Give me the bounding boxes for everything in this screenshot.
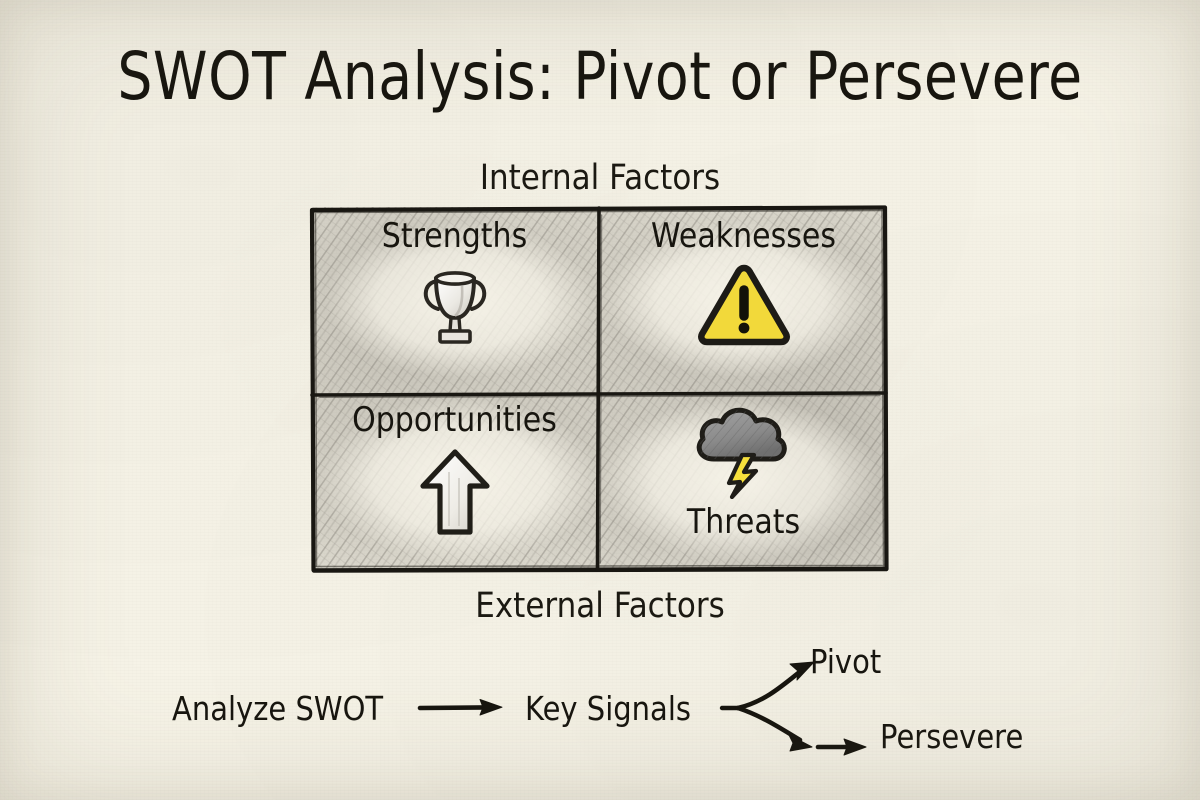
swot-matrix: Strengths [310,205,888,572]
flow-node-analyze-swot[interactable]: Analyze SWOT [172,690,383,728]
quadrant-label-weaknesses: Weaknesses [651,217,836,256]
external-factors-label: External Factors [0,586,1200,626]
flow-node-persevere[interactable]: Persevere [880,718,1023,756]
decision-flow: Analyze SWOT Key Signals Pivot Persevere [150,630,1070,770]
arrow-right-icon [818,739,866,755]
flow-node-pivot[interactable]: Pivot [810,643,881,681]
quadrant-weaknesses[interactable]: Weaknesses [599,205,888,389]
warning-triangle-icon [696,260,792,352]
branch-arrow-up-icon [738,662,814,708]
quadrant-threats[interactable]: Threats [599,389,888,573]
quadrant-label-strengths: Strengths [382,217,527,256]
quadrant-strengths[interactable]: Strengths [310,205,599,389]
quadrant-label-threats: Threats [687,502,800,541]
arrow-right-icon [420,700,502,716]
storm-cloud-icon [684,397,804,503]
quadrant-opportunities[interactable]: Opportunities [310,389,599,573]
internal-factors-label: Internal Factors [0,158,1200,198]
branch-arrow-down-icon [738,708,812,751]
quadrant-label-opportunities: Opportunities [352,400,557,439]
up-arrow-icon [415,444,495,544]
page-title: SWOT Analysis: Pivot or Persevere [18,39,1182,116]
flow-node-key-signals[interactable]: Key Signals [525,690,691,728]
trophy-icon [413,260,497,352]
